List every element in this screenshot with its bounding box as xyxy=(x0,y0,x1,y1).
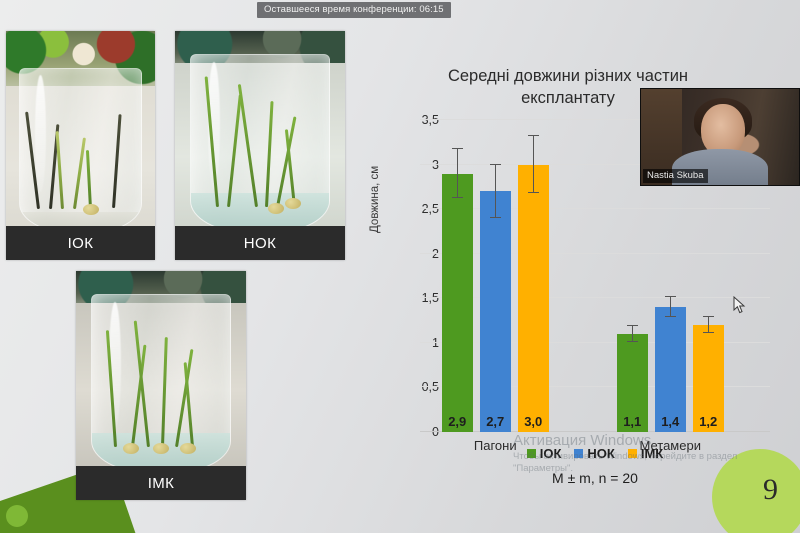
chart-error-cap xyxy=(627,325,638,326)
chart-legend-item: ІОК xyxy=(527,446,562,461)
chart-error-bar xyxy=(495,165,496,218)
chart-error-cap xyxy=(703,332,714,333)
chart-error-cap xyxy=(452,197,463,198)
chart-error-cap xyxy=(665,296,676,297)
video-participant-tile[interactable]: Nastia Skuba xyxy=(640,88,800,186)
chart-bar-value-label: 2,9 xyxy=(442,414,473,429)
chart-error-cap xyxy=(490,164,501,165)
chart-legend-label: НОК xyxy=(587,446,614,461)
photo-imk-caption: ІМК xyxy=(76,466,246,500)
corner-logo-dot xyxy=(6,505,28,527)
chart-error-bar xyxy=(533,136,534,193)
chart-legend-label: ІОК xyxy=(540,446,562,461)
chart-error-bar xyxy=(632,326,633,342)
chart-bar-value-label: 1,2 xyxy=(693,414,724,429)
chart-error-cap xyxy=(665,316,676,317)
conference-time-banner: Оставшееся время конференции: 06:15 xyxy=(257,2,451,18)
chart-bar: 3,0 xyxy=(518,165,549,432)
chart-bar: 1,1 xyxy=(617,334,648,432)
chart-legend-label: ІМК xyxy=(641,446,663,461)
photo-imk: ІМК xyxy=(76,271,246,500)
chart-error-cap xyxy=(528,135,539,136)
chart-bar: 1,2 xyxy=(693,325,724,432)
chart-error-cap xyxy=(452,148,463,149)
photo-nok-caption: НОК xyxy=(175,226,345,260)
chart-legend-item: НОК xyxy=(574,446,614,461)
chart-error-bar xyxy=(670,297,671,317)
chart-bar-value-label: 3,0 xyxy=(518,414,549,429)
chart-legend-swatch xyxy=(628,449,637,458)
chart-legend-swatch xyxy=(527,449,536,458)
video-participant-name: Nastia Skuba xyxy=(643,169,708,183)
photo-iok-caption: ІОК xyxy=(6,226,155,260)
chart-error-bar xyxy=(457,149,458,197)
chart-legend-item: ІМК xyxy=(628,446,663,461)
presentation-slide: 9 ІОК xyxy=(0,0,800,533)
screen: 9 ІОК xyxy=(0,0,800,533)
chart-bar-value-label: 1,4 xyxy=(655,414,686,429)
chart-bar-value-label: 1,1 xyxy=(617,414,648,429)
chart-error-cap xyxy=(627,341,638,342)
chart-error-cap xyxy=(528,192,539,193)
page-number: 9 xyxy=(763,473,778,507)
chart-error-bar xyxy=(708,317,709,333)
chart-bar-value-label: 2,7 xyxy=(480,414,511,429)
photo-nok: НОК xyxy=(175,31,345,260)
chart-legend-swatch xyxy=(574,449,583,458)
chart-error-cap xyxy=(703,316,714,317)
chart-bar: 1,4 xyxy=(655,307,686,432)
photo-iok: ІОК xyxy=(6,31,155,260)
chart-bar: 2,9 xyxy=(442,174,473,433)
chart-error-cap xyxy=(490,217,501,218)
chart-legend: ІОКНОКІМК xyxy=(420,446,770,461)
chart-bar: 2,7 xyxy=(480,191,511,432)
